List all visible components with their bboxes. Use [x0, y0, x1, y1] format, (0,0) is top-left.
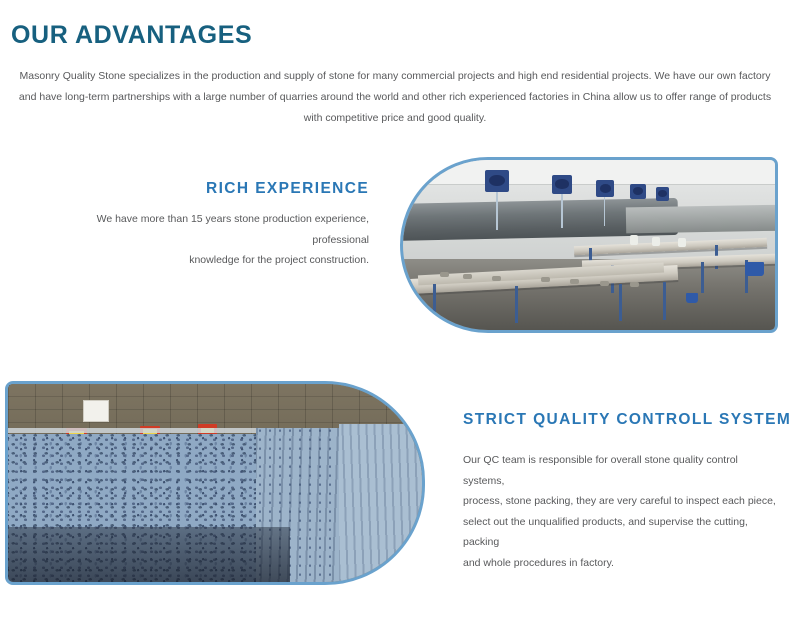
factory-table-leg-f2 [515, 286, 518, 323]
factory-table-leg-f3 [619, 284, 622, 321]
quality-control-body-line-2: process, stone packing, they are very ca… [463, 491, 778, 512]
factory-hose-reel-5 [656, 187, 669, 201]
factory-stone-piece-2 [463, 274, 472, 279]
factory-back-wall-panel [626, 204, 775, 232]
factory-upper-wall [403, 160, 775, 185]
intro-line-2: and have long-term partnerships with a l… [8, 87, 782, 108]
qc-scene [8, 384, 422, 582]
factory-stone-piece-7 [630, 282, 639, 287]
intro-paragraph: Masonry Quality Stone specializes in the… [8, 66, 782, 129]
factory-table-leg-f1 [433, 284, 436, 321]
qc-slab-shadow [8, 527, 290, 582]
factory-stone-piece-4 [541, 277, 550, 282]
factory-bucket-1 [745, 262, 764, 276]
factory-bottle-1 [630, 235, 638, 245]
factory-table-leg-m2 [701, 262, 704, 293]
rich-experience-body: We have more than 15 years stone product… [44, 209, 369, 271]
factory-hose-reel-4 [630, 184, 646, 199]
factory-stone-piece-3 [492, 276, 501, 281]
factory-hose-reel-1 [485, 170, 509, 192]
factory-bottle-2 [652, 237, 659, 246]
qc-white-sign [83, 400, 110, 422]
factory-workers-photo [400, 157, 778, 333]
quality-control-body-line-1: Our QC team is responsible for overall s… [463, 450, 778, 491]
factory-bucket-2 [686, 293, 698, 303]
factory-stone-piece-1 [440, 272, 449, 277]
factory-bottle-3 [678, 238, 685, 247]
intro-line-3: with competitive price and good quality. [8, 108, 782, 129]
rich-experience-heading: RICH EXPERIENCE [206, 180, 369, 198]
factory-scene [403, 160, 775, 330]
quality-control-heading: STRICT QUALITY CONTROLL SYSTEM [463, 411, 790, 429]
factory-table-leg-f4 [663, 282, 666, 319]
factory-hose-1 [496, 192, 498, 229]
page-title: OUR ADVANTAGES [11, 21, 252, 50]
quality-control-body: Our QC team is responsible for overall s… [463, 450, 778, 573]
quality-control-body-line-4: and whole procedures in factory. [463, 553, 778, 574]
qc-inspection-photo [5, 381, 425, 585]
intro-line-1: Masonry Quality Stone specializes in the… [8, 66, 782, 87]
factory-hose-2 [561, 194, 563, 228]
rich-experience-body-line-1: We have more than 15 years stone product… [44, 209, 369, 250]
quality-control-body-line-3: select out the unqualified products, and… [463, 512, 778, 553]
factory-hose-reel-3 [596, 180, 614, 197]
qc-background-slab [339, 424, 422, 582]
factory-hose-3 [604, 197, 606, 226]
rich-experience-body-line-2: knowledge for the project construction. [44, 250, 369, 271]
factory-stone-piece-5 [570, 279, 579, 284]
factory-hose-reel-2 [552, 175, 572, 194]
factory-stone-piece-6 [600, 281, 609, 286]
